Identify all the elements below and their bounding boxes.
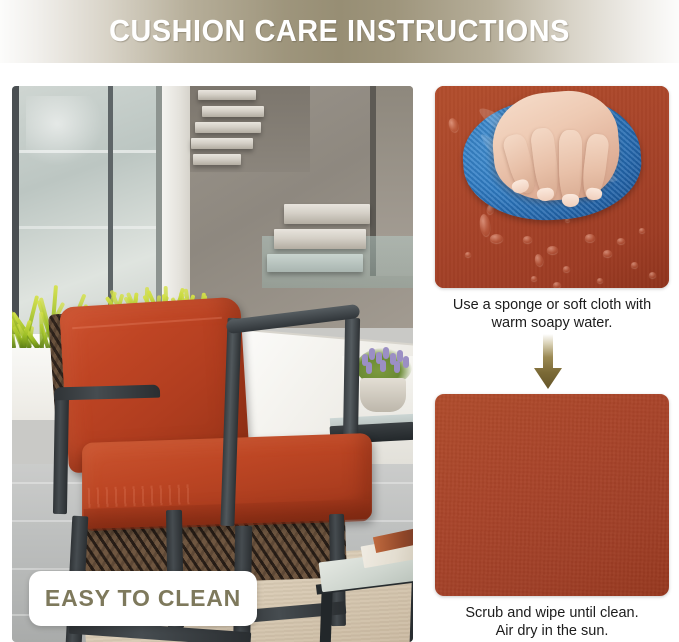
chair-frame-armrest-top-left bbox=[54, 385, 160, 401]
page-title: CUSHION CARE INSTRUCTIONS bbox=[24, 13, 655, 49]
water-droplet bbox=[585, 234, 595, 242]
floating-stair-step bbox=[274, 229, 366, 249]
caption-line: warm soapy water. bbox=[432, 314, 672, 332]
caption-line: Air dry in the sun. bbox=[432, 622, 672, 640]
lavender-bloom bbox=[366, 362, 372, 374]
caption-line: Use a sponge or soft cloth with bbox=[432, 296, 672, 314]
lavender-bloom bbox=[394, 361, 400, 373]
water-droplet bbox=[547, 246, 558, 254]
lavender-bloom bbox=[369, 348, 375, 360]
water-droplet bbox=[563, 266, 570, 272]
water-droplet bbox=[639, 228, 645, 233]
water-droplet bbox=[631, 262, 638, 268]
grass-blade bbox=[39, 312, 44, 348]
floating-stair-step bbox=[191, 138, 253, 149]
easy-to-clean-label: EASY TO CLEAN bbox=[45, 585, 241, 612]
cushion-care-infographic: CUSHION CARE INSTRUCTIONS bbox=[0, 0, 679, 642]
chair-frame-post bbox=[343, 318, 360, 444]
water-droplet bbox=[597, 278, 603, 283]
step-1-caption: Use a sponge or soft cloth with warm soa… bbox=[432, 296, 672, 332]
lavender-bloom bbox=[403, 356, 409, 368]
fingernail bbox=[562, 194, 579, 207]
water-droplet bbox=[490, 234, 503, 243]
chair-frame-armrest-left bbox=[53, 392, 69, 514]
hand-wiping-cushion-with-blue-cloth-photo bbox=[435, 86, 669, 288]
water-droplet bbox=[603, 250, 612, 257]
lavender-bloom bbox=[380, 360, 386, 372]
floating-stair-step bbox=[198, 90, 256, 100]
window-divider bbox=[19, 150, 156, 153]
outdoor-patio-chair-photo bbox=[12, 86, 413, 642]
caption-line: Scrub and wipe until clean. bbox=[432, 604, 672, 622]
clean-dry-cushion-fabric-photo bbox=[435, 394, 669, 596]
floating-stair-step bbox=[267, 254, 363, 272]
header-banner: CUSHION CARE INSTRUCTIONS bbox=[0, 0, 679, 63]
down-arrow-icon bbox=[533, 334, 563, 390]
window-divider bbox=[19, 226, 156, 229]
lavender-bloom bbox=[383, 347, 389, 359]
floating-stair-step bbox=[284, 204, 370, 224]
water-droplet bbox=[523, 236, 532, 243]
floating-stair-step bbox=[195, 122, 261, 133]
water-droplet bbox=[553, 282, 561, 288]
stone-planter-pot bbox=[360, 378, 406, 412]
water-droplet bbox=[465, 252, 471, 257]
water-droplet bbox=[617, 238, 625, 244]
water-droplet bbox=[531, 276, 537, 281]
floating-stair-step bbox=[193, 154, 241, 165]
step-2-caption: Scrub and wipe until clean. Air dry in t… bbox=[432, 604, 672, 640]
window-reflection bbox=[26, 96, 104, 166]
easy-to-clean-badge: EASY TO CLEAN bbox=[29, 571, 257, 626]
water-droplet bbox=[649, 272, 656, 278]
cushion-tufting bbox=[88, 484, 193, 508]
floating-stair-step bbox=[202, 106, 264, 117]
